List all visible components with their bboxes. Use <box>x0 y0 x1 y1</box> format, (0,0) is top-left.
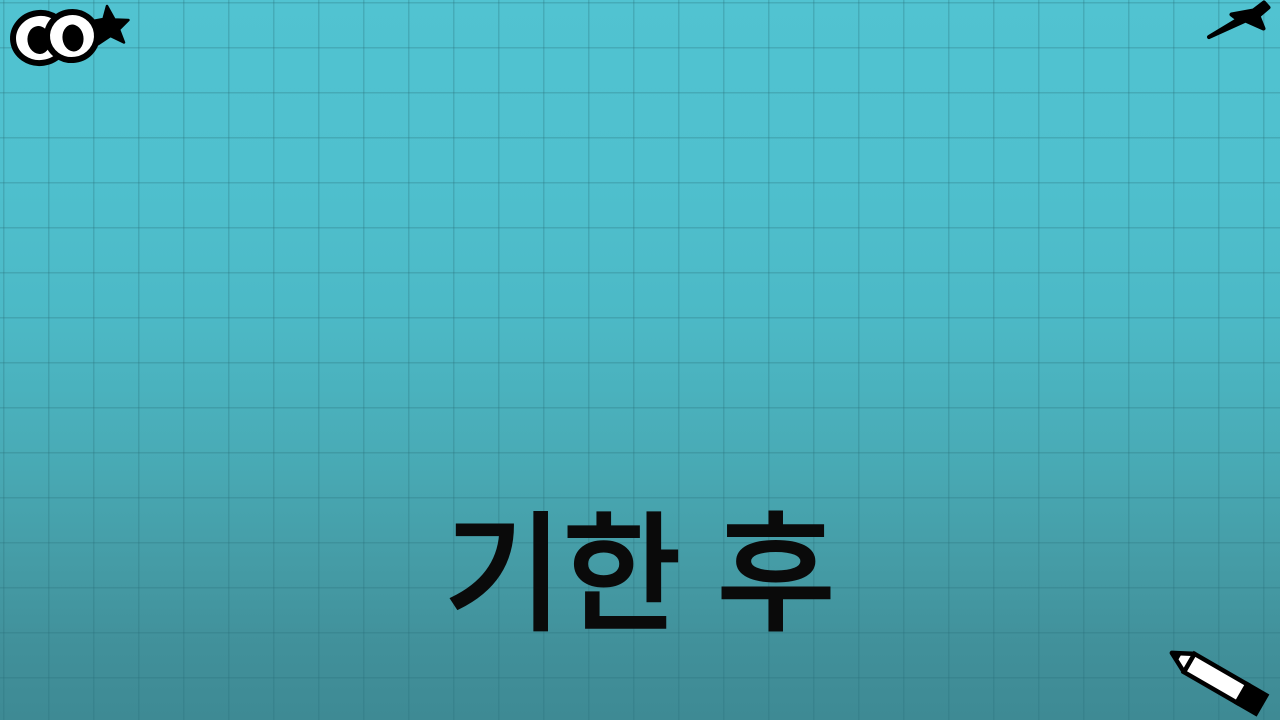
arrow-cursor-icon[interactable] <box>1206 0 1274 50</box>
title-line-1: 기한 후 <box>0 498 1280 654</box>
page-title: 기한 후 신고란 무엇인가요 <box>0 186 1280 720</box>
slide-canvas: 기한 후 신고란 무엇인가요 <box>0 0 1280 720</box>
brand-logo[interactable] <box>6 2 130 68</box>
